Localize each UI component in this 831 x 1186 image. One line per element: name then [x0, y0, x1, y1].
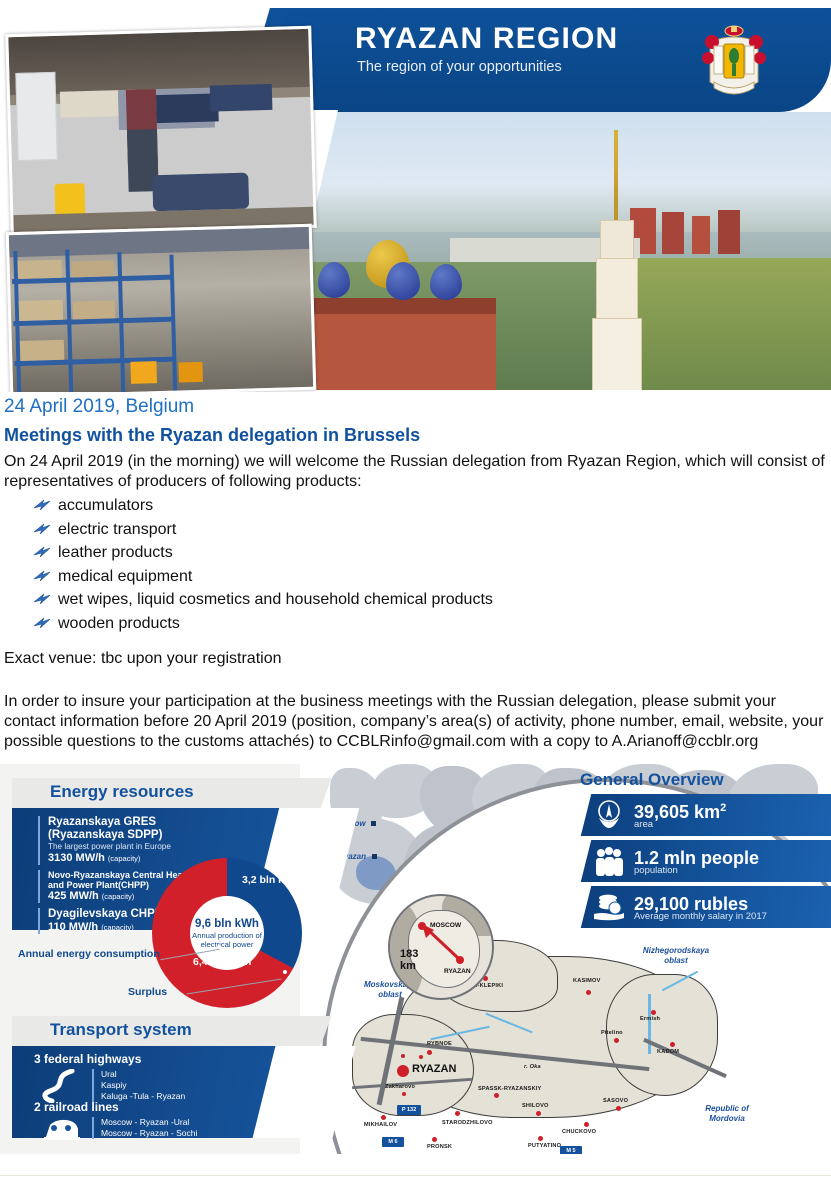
power-plant-item: Dyagilevskaya CHPP 110 MW/h (capacity) — [38, 908, 162, 934]
river-label-oka: r. Oka — [524, 1064, 541, 1070]
city-dot — [427, 1050, 432, 1055]
plant-capacity-unit: (capacity) — [101, 923, 134, 932]
article-intro: On 24 April 2019 (in the morning) we wil… — [4, 452, 827, 492]
road-shield-p132: P 132 — [397, 1105, 421, 1115]
overview-stat-row: 29,100 rubles Average monthly salary in … — [562, 886, 831, 928]
city-dot — [584, 1122, 589, 1127]
city-label-ermish: Ermish — [640, 1016, 660, 1022]
overview-stat-row: 39,605 km2 area — [562, 794, 831, 836]
city-dot — [381, 1115, 386, 1120]
inset-distance-value: 183 — [400, 948, 418, 960]
city-dot — [402, 1092, 406, 1096]
road-shield-m5: M 5 — [560, 1146, 582, 1154]
location-pin-icon — [592, 798, 626, 832]
highway-icon — [38, 1069, 84, 1103]
venue-note: Exact venue: tbc upon your registration — [4, 649, 827, 669]
city-dot — [616, 1106, 621, 1111]
ryazan-dot — [372, 854, 377, 859]
city-dot — [586, 990, 591, 995]
arrow-bullet-icon — [32, 497, 52, 513]
city-label-pronsk: PRONSK — [427, 1144, 452, 1150]
plant-note: The largest power plant in Europe — [48, 842, 171, 852]
label-republic-of-mordovia: Republic of Mordovia — [688, 1104, 766, 1124]
city-label-sasovo: SASOVO — [603, 1098, 628, 1104]
transport-system-panel: Transport system 3 federal highways Ural… — [12, 1016, 304, 1138]
city-label-kadom: KADOM — [657, 1049, 679, 1055]
city-label-mikhailov: MIKHAILOV — [364, 1122, 397, 1128]
city-dot — [455, 1111, 460, 1116]
list-item: accumulators — [30, 494, 820, 518]
overview-stat-row: 1.2 mln people population — [562, 840, 831, 882]
plant-capacity: 3130 MW/h — [48, 852, 105, 864]
photo-warehouse — [6, 224, 317, 392]
footer-divider — [0, 1175, 831, 1176]
city-label-pitelino: Pitelino — [601, 1030, 623, 1036]
train-icon — [40, 1117, 86, 1143]
moscow-dot — [371, 821, 376, 826]
overview-stat-label: Average monthly salary in 2017 — [634, 911, 767, 922]
overview-title: General Overview — [580, 770, 724, 790]
people-icon — [592, 844, 626, 878]
rail-heading: 2 railroad lines — [34, 1100, 197, 1114]
list-item: leather products — [30, 541, 820, 565]
city-label-starodzhilovo: STARODZHILOVO — [442, 1120, 493, 1126]
transport-panel-header: Transport system — [12, 1016, 304, 1046]
plant-name-line1: Dyagilevskaya CHPP — [48, 908, 162, 921]
inset-distance-arrow-icon — [390, 896, 492, 998]
list-item: wooden products — [30, 612, 820, 636]
map-inset-moscow-ryazan: MOSCOW RYAZAN 183 km — [388, 894, 494, 1000]
leader-dot — [283, 970, 287, 974]
money-hand-icon — [592, 890, 626, 924]
city-label-putyatino: PUTYATINO — [528, 1143, 561, 1149]
road-shield-m6: M 6 — [382, 1137, 404, 1147]
infographic: RYAZAN SPAS-KLEPIKI KASIMOV RYBNOE Zakha… — [0, 764, 831, 1154]
highway-name: Ural — [101, 1069, 185, 1080]
plant-capacity: 425 MW/h — [48, 890, 99, 902]
overview-stat-label: area — [634, 819, 653, 830]
arrow-bullet-icon — [32, 568, 52, 584]
city-dot — [536, 1111, 541, 1116]
list-item-label: wooden products — [58, 615, 180, 632]
stat-value-sup: 2 — [720, 802, 726, 814]
leader-dot — [217, 945, 221, 949]
highways-group: 3 federal highways Ural Kaspiy Kaluga -T… — [34, 1052, 185, 1102]
photo-textile-factory — [5, 26, 317, 236]
city-dot-ryazan — [397, 1065, 409, 1077]
plant-capacity-unit: (capacity) — [102, 892, 135, 901]
list-item-label: wet wipes, liquid cosmetics and househol… — [58, 591, 493, 608]
city-label-shilovo: SHILOVO — [522, 1103, 549, 1109]
city-dot — [614, 1038, 619, 1043]
plant-name-line1: Ryazanskaya GRES — [48, 816, 171, 829]
city-label-ryazan: RYAZAN — [412, 1063, 456, 1075]
donut-label-consumption-value: 6,4 bln kWh — [193, 956, 251, 968]
plant-name-line2: (Ryazanskaya SDPP) — [48, 829, 171, 842]
city-dot — [432, 1137, 437, 1142]
city-dot — [401, 1054, 405, 1058]
inset-distance: 183 km — [400, 948, 418, 972]
city-label-kasimov: KASIMOV — [573, 978, 601, 984]
transport-panel-title: Transport system — [50, 1020, 192, 1040]
city-dot — [419, 1055, 423, 1059]
article-body: 24 April 2019, Belgium Meetings with the… — [0, 392, 831, 764]
label-text: Republic of Mordovia — [705, 1104, 749, 1123]
city-label-zakharovo: Zakharovo — [385, 1084, 415, 1090]
arrow-bullet-icon — [32, 521, 52, 537]
city-dot — [670, 1042, 675, 1047]
donut-label-surplus-value: 3,2 bln kWh — [242, 874, 300, 886]
article-kicker: 24 April 2019, Belgium — [4, 396, 194, 418]
donut-center-label: Annual production of electrical power — [190, 931, 264, 950]
rail-name: Moscow - Ryazan - Sochi — [101, 1128, 197, 1139]
article-headline: Meetings with the Ryazan delegation in B… — [4, 425, 420, 446]
arrow-bullet-icon — [32, 591, 52, 607]
rail-name: Moscow - Ryazan -Ural — [101, 1117, 197, 1128]
city-label-chuckovo: CHUCKOVO — [562, 1129, 596, 1135]
list-item: medical equipment — [30, 565, 820, 589]
highways-heading: 3 federal highways — [34, 1052, 185, 1066]
transport-panel-body: 3 federal highways Ural Kaspiy Kaluga -T… — [12, 1046, 304, 1138]
hero-banner: RYAZAN REGION The region of your opportu… — [0, 0, 831, 392]
highway-name: Kaspiy — [101, 1080, 185, 1091]
page-title: RYAZAN REGION — [355, 24, 695, 54]
list-item-label: accumulators — [58, 497, 153, 514]
arrow-bullet-icon — [32, 615, 52, 631]
power-plant-item: Ryazanskaya GRES (Ryazanskaya SDPP) The … — [38, 816, 171, 865]
city-label-rybnoe: RYBNOE — [427, 1041, 452, 1047]
coat-of-arms-icon — [700, 24, 768, 104]
energy-panel-header: Energy resources — [12, 778, 304, 808]
list-item: electric transport — [30, 518, 820, 542]
plant-capacity-unit: (capacity) — [108, 854, 141, 863]
photo-ryazan-kremlin — [300, 112, 831, 390]
inset-distance-unit: km — [400, 960, 416, 972]
list-item: wet wipes, liquid cosmetics and househol… — [30, 588, 820, 612]
energy-panel-title: Energy resources — [50, 782, 194, 802]
railroad-group: 2 railroad lines Moscow - Ryazan -Ural M… — [34, 1100, 197, 1139]
list-item-label: medical equipment — [58, 568, 192, 585]
plant-capacity: 110 MW/h — [48, 921, 98, 933]
donut-center-value: 9,6 bln kWh — [195, 917, 259, 931]
label-nizhegorodskaya-oblast: Nizhegorodskaya oblast — [636, 946, 716, 966]
city-dot — [494, 1093, 499, 1098]
registration-note: In order to insure your participation at… — [4, 692, 827, 752]
overview-stat-label: population — [634, 865, 678, 876]
city-dot — [651, 1010, 656, 1015]
list-item-label: electric transport — [58, 521, 176, 538]
donut-caption-surplus: Surplus — [128, 986, 167, 998]
city-label-spassk: SPASSK-RYAZANSKIY — [478, 1086, 542, 1092]
arrow-bullet-icon — [32, 544, 52, 560]
page-subtitle: The region of your opportunities — [357, 60, 697, 75]
list-item-label: leather products — [58, 544, 173, 561]
city-dot — [538, 1136, 543, 1141]
label-text: Nizhegorodskaya oblast — [643, 946, 709, 965]
product-list: accumulators electric transport leather … — [30, 494, 820, 635]
donut-caption-consumption: Annual energy consumption — [18, 948, 160, 960]
